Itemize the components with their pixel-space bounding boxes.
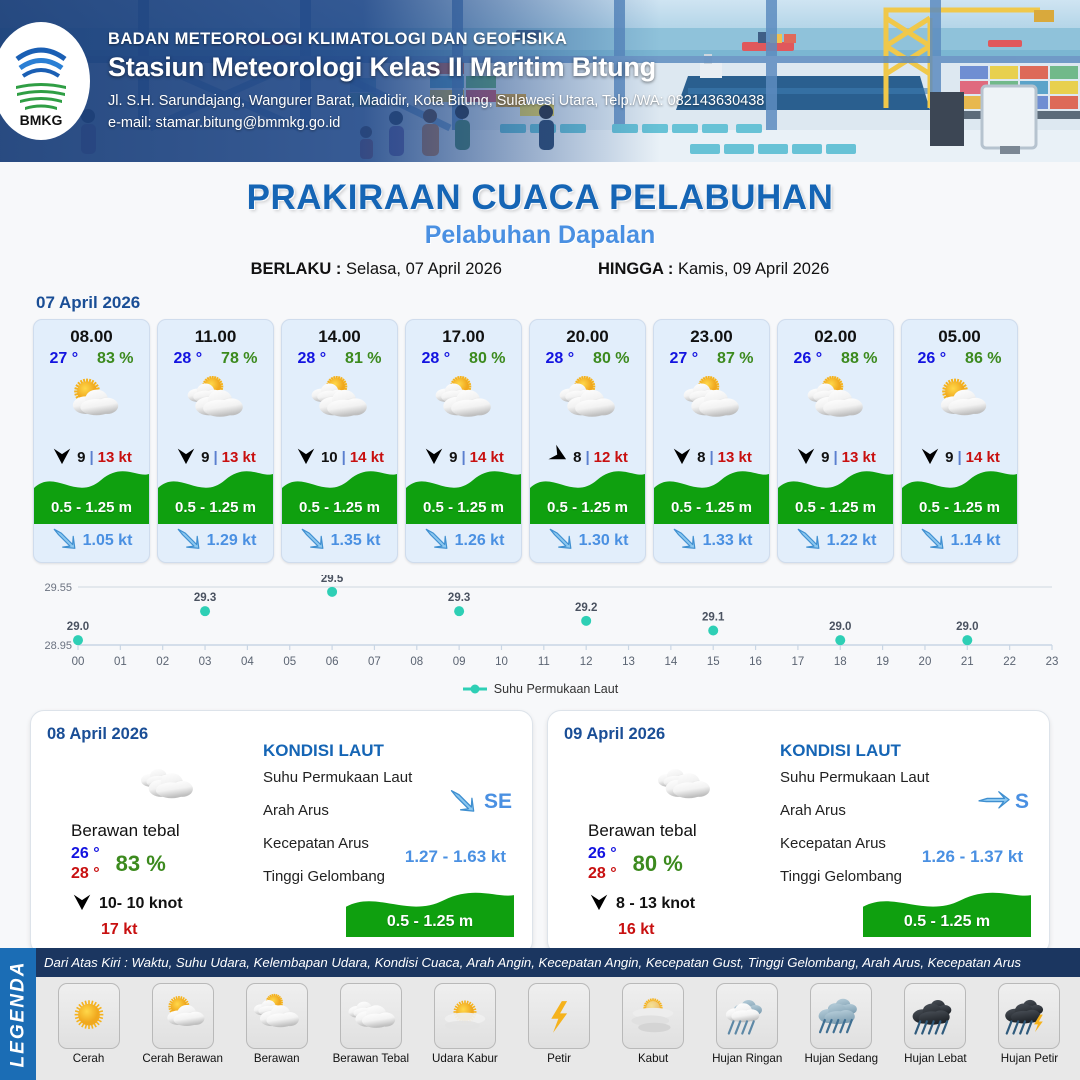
daily-temp-range: 26 ° 28 °: [588, 844, 617, 884]
legend-item: Hujan Lebat: [889, 983, 982, 1066]
svg-text:02: 02: [156, 656, 169, 668]
svg-text:11: 11: [538, 656, 550, 668]
hingga-label: HINGGA :: [598, 260, 673, 278]
card-humidity: 86 %: [965, 350, 1001, 368]
row-current-speed-label: Kecepatan Arus: [780, 835, 886, 852]
weather-cerah-berawan-icon: [152, 983, 214, 1049]
svg-text:01: 01: [114, 656, 127, 668]
legend-item-label: Udara Kabur: [432, 1053, 498, 1066]
forecast-date-label: 07 April 2026: [36, 293, 1080, 313]
current-direction-arrow-icon: [448, 786, 476, 818]
card-humidity: 80 %: [593, 350, 629, 368]
daily-wave-height: 0.5 - 1.25 m: [863, 913, 1031, 931]
forecast-card[interactable]: 14.00 28 ° 81 % 10 | 14 kt: [281, 319, 398, 563]
card-temp-humidity: 28 ° 80 %: [406, 350, 521, 368]
svg-text:05: 05: [283, 656, 296, 668]
weather-kabut-icon: [622, 983, 684, 1049]
weather-berawan-icon: [282, 370, 397, 436]
card-temperature: 27 °: [669, 350, 698, 368]
daily-temp-max: 28 °: [588, 864, 617, 884]
weather-udara-kabur-icon: [434, 983, 496, 1049]
legenda-text: LEGENDA: [7, 961, 29, 1068]
daily-forecast-panel[interactable]: 09 April 2026 Berawan tebal 26 ° 28: [547, 710, 1050, 955]
svg-text:23: 23: [1046, 656, 1059, 668]
daily-gust: 17 kt: [101, 921, 261, 939]
card-current-row: 1.30 kt: [530, 525, 645, 556]
current-direction-arrow-icon: [547, 525, 573, 556]
card-time: 17.00: [406, 327, 521, 347]
legend-item: Kabut: [607, 983, 700, 1066]
row-current-direction-label: Arah Arus: [263, 802, 329, 819]
current-speed: 1.29 kt: [207, 532, 257, 550]
legend-item-label: Berawan Tebal: [333, 1053, 410, 1066]
card-current-row: 1.35 kt: [282, 525, 397, 556]
current-speed: 1.26 kt: [455, 532, 505, 550]
berlaku-group: BERLAKU : Selasa, 07 April 2026: [251, 260, 502, 279]
weather-berawan-tebal-icon: [340, 983, 402, 1049]
row-current-speed: Kecepatan Arus 1.26 - 1.37 kt: [780, 835, 1037, 852]
svg-text:BMKG: BMKG: [20, 112, 63, 128]
svg-text:29.0: 29.0: [829, 621, 851, 633]
legend-item: Cerah: [42, 983, 135, 1066]
wave-height: 0.5 - 1.25 m: [902, 499, 1017, 516]
station-address: Jl. S.H. Sarundajang, Wangurer Barat, Ma…: [108, 93, 764, 109]
weather-cerah-berawan-icon: [34, 370, 149, 436]
svg-text:16: 16: [749, 656, 762, 668]
wave-height: 0.5 - 1.25 m: [158, 499, 273, 516]
svg-text:09: 09: [453, 656, 466, 668]
legend-item-label: Kabut: [638, 1053, 668, 1066]
validity-row: BERLAKU : Selasa, 07 April 2026 HINGGA :…: [0, 260, 1080, 279]
card-temperature: 27 °: [49, 350, 78, 368]
sea-conditions-title: KONDISI LAUT: [780, 741, 1037, 761]
sst-legend-marker: [462, 683, 488, 695]
wind-direction-arrow-icon: [71, 890, 93, 917]
daily-wave-graphic: 0.5 - 1.25 m: [863, 885, 1031, 937]
row-sea-surface-temp: Suhu Permukaan Laut: [263, 769, 520, 786]
legend-item-label: Cerah Berawan: [142, 1053, 223, 1066]
forecast-card[interactable]: 05.00 26 ° 86 % 9 | 14 kt 0.: [901, 319, 1018, 563]
forecast-card[interactable]: 08.00 27 ° 83 % 9 | 13 kt 0.: [33, 319, 150, 563]
hourly-forecast-row: 08.00 27 ° 83 % 9 | 13 kt 0.: [0, 319, 1080, 563]
card-temperature: 28 °: [297, 350, 326, 368]
legend-item-label: Hujan Petir: [1001, 1053, 1058, 1066]
legend-description: Dari Atas Kiri : Waktu, Suhu Udara, Kele…: [36, 948, 1080, 977]
current-speed-value: 1.26 - 1.37 kt: [922, 847, 1023, 867]
daily-temp-min: 26 °: [71, 844, 100, 864]
daily-condition: Berawan tebal: [71, 821, 261, 841]
chart-legend-label: Suhu Permukaan Laut: [494, 682, 618, 696]
row-current-speed-label: Kecepatan Arus: [263, 835, 369, 852]
forecast-card[interactable]: 11.00 28 ° 78 % 9 | 13 kt: [157, 319, 274, 563]
wave-height: 0.5 - 1.25 m: [282, 499, 397, 516]
legend-side-label: LEGENDA: [0, 948, 36, 1080]
current-speed: 1.14 kt: [951, 532, 1001, 550]
page-header: BMKG BADAN METEOROLOGI KLIMATOLOGI DAN G…: [0, 0, 1080, 162]
card-humidity: 78 %: [221, 350, 257, 368]
current-speed: 1.22 kt: [827, 532, 877, 550]
chart-legend: Suhu Permukaan Laut: [0, 682, 1080, 696]
daily-temp-max: 28 °: [71, 864, 100, 884]
wave-height: 0.5 - 1.25 m: [34, 499, 149, 516]
daily-condition: Berawan tebal: [588, 821, 778, 841]
svg-text:15: 15: [707, 656, 720, 668]
svg-text:19: 19: [876, 656, 889, 668]
weather-hujan-ringan-icon: [716, 983, 778, 1049]
svg-text:21: 21: [961, 656, 974, 668]
current-direction-arrow-icon: [979, 786, 1007, 818]
card-temperature: 28 °: [545, 350, 574, 368]
row-current-direction: Arah Arus S: [780, 802, 1037, 819]
card-current-row: 1.33 kt: [654, 525, 769, 556]
sea-conditions: KONDISI LAUT Suhu Permukaan Laut Arah Ar…: [263, 741, 520, 901]
weather-berawan-tebal-icon: [71, 757, 261, 813]
daily-gust: 16 kt: [618, 921, 778, 939]
daily-forecast-row: 08 April 2026 Berawan tebal 26 ° 28: [0, 696, 1080, 955]
card-temperature: 26 °: [793, 350, 822, 368]
svg-text:13: 13: [622, 656, 635, 668]
sst-chart: 29.5528.95000102030405060708091011121314…: [20, 575, 1060, 680]
svg-text:29.55: 29.55: [44, 582, 72, 594]
legend-item-label: Hujan Sedang: [805, 1053, 879, 1066]
daily-temp-range: 26 ° 28 °: [71, 844, 100, 884]
sea-conditions-title: KONDISI LAUT: [263, 741, 520, 761]
card-temp-humidity: 26 ° 86 %: [902, 350, 1017, 368]
wave-height: 0.5 - 1.25 m: [654, 499, 769, 516]
daily-wave-height: 0.5 - 1.25 m: [346, 913, 514, 931]
weather-hujan-sedang-icon: [810, 983, 872, 1049]
weather-berawan-icon: [406, 370, 521, 436]
forecast-card[interactable]: 17.00 28 ° 80 % 9 | 14 kt: [405, 319, 522, 563]
row-wave-height: Tinggi Gelombang 0.5 - 1.25 m: [263, 868, 520, 885]
svg-text:29.0: 29.0: [956, 621, 978, 633]
svg-text:10: 10: [495, 656, 508, 668]
svg-text:07: 07: [368, 656, 381, 668]
daily-humidity: 80 %: [633, 851, 683, 877]
legend-item: Udara Kabur: [418, 983, 511, 1066]
forecast-card[interactable]: 02.00 26 ° 88 % 9 | 13 kt: [777, 319, 894, 563]
weather-berawan-icon: [530, 370, 645, 436]
weather-hujan-petir-icon: [998, 983, 1060, 1049]
current-direction-arrow-icon: [175, 525, 201, 556]
daily-humidity: 83 %: [116, 851, 166, 877]
forecast-card[interactable]: 20.00 28 ° 80 % 8 | 12 kt: [529, 319, 646, 563]
card-current-row: 1.22 kt: [778, 525, 893, 556]
svg-text:08: 08: [410, 656, 423, 668]
bmkg-logo: BMKG: [0, 22, 90, 140]
wave-height: 0.5 - 1.25 m: [406, 499, 521, 516]
svg-text:14: 14: [664, 656, 677, 668]
row-current-direction: Arah Arus SE: [263, 802, 520, 819]
svg-text:29.2: 29.2: [575, 602, 597, 614]
wave-height: 0.5 - 1.25 m: [778, 499, 893, 516]
page-title: PRAKIRAAN CUACA PELABUHAN: [0, 178, 1080, 218]
current-direction-arrow-icon: [423, 525, 449, 556]
current-direction-value: SE: [448, 786, 512, 818]
card-temperature: 26 °: [917, 350, 946, 368]
card-time: 11.00: [158, 327, 273, 347]
legend-bar: LEGENDA Dari Atas Kiri : Waktu, Suhu Uda…: [0, 948, 1080, 1080]
card-current-row: 1.05 kt: [34, 525, 149, 556]
daily-wind-row: 10- 10 knot: [71, 890, 261, 917]
hingga-value: Kamis, 09 April 2026: [678, 260, 829, 278]
legend-icon-list: Cerah Cerah Berawan: [36, 977, 1080, 1080]
svg-text:29.0: 29.0: [67, 621, 89, 633]
berlaku-label: BERLAKU :: [251, 260, 342, 278]
station-email: e-mail: stamar.bitung@bmmkg.go.id: [108, 115, 764, 131]
svg-text:20: 20: [919, 656, 932, 668]
card-temperature: 28 °: [421, 350, 450, 368]
card-time: 02.00: [778, 327, 893, 347]
svg-text:00: 00: [72, 656, 85, 668]
legend-item: Hujan Ringan: [701, 983, 794, 1066]
current-direction-label: S: [1015, 790, 1029, 814]
svg-text:06: 06: [326, 656, 339, 668]
current-direction-arrow-icon: [795, 525, 821, 556]
forecast-card[interactable]: 23.00 27 ° 87 % 8 | 13 kt: [653, 319, 770, 563]
card-time: 05.00: [902, 327, 1017, 347]
card-humidity: 80 %: [469, 350, 505, 368]
card-time: 14.00: [282, 327, 397, 347]
weather-petir-icon: [528, 983, 590, 1049]
card-temp-humidity: 27 ° 83 %: [34, 350, 149, 368]
current-speed: 1.30 kt: [579, 532, 629, 550]
current-speed: 1.33 kt: [703, 532, 753, 550]
card-temperature: 28 °: [173, 350, 202, 368]
daily-left-column: Berawan tebal 26 ° 28 ° 83 % 10- 10 knot…: [71, 757, 261, 939]
svg-text:12: 12: [580, 656, 593, 668]
row-current-speed: Kecepatan Arus 1.27 - 1.63 kt: [263, 835, 520, 852]
agency-name: BADAN METEOROLOGI KLIMATOLOGI DAN GEOFIS…: [108, 30, 764, 49]
legend-item: Hujan Petir: [983, 983, 1076, 1066]
svg-text:29.1: 29.1: [702, 612, 725, 624]
legend-item: Berawan: [230, 983, 323, 1066]
card-humidity: 87 %: [717, 350, 753, 368]
berlaku-value: Selasa, 07 April 2026: [346, 260, 502, 278]
card-time: 20.00: [530, 327, 645, 347]
legend-item: Berawan Tebal: [324, 983, 417, 1066]
current-direction-label: SE: [484, 790, 512, 814]
row-wave-height-label: Tinggi Gelombang: [263, 868, 385, 885]
daily-left-column: Berawan tebal 26 ° 28 ° 80 % 8 - 13 knot…: [588, 757, 778, 939]
daily-wave-graphic: 0.5 - 1.25 m: [346, 885, 514, 937]
legend-item-label: Hujan Ringan: [712, 1053, 782, 1066]
daily-wind-speed: 8 - 13 knot: [616, 895, 695, 913]
weather-berawan-icon: [778, 370, 893, 436]
svg-text:22: 22: [1003, 656, 1016, 668]
daily-wind-speed: 10- 10 knot: [99, 895, 183, 913]
daily-temps: 26 ° 28 ° 83 %: [71, 844, 261, 884]
current-speed: 1.05 kt: [83, 532, 133, 550]
card-humidity: 81 %: [345, 350, 381, 368]
card-temp-humidity: 28 ° 81 %: [282, 350, 397, 368]
row-current-direction-label: Arah Arus: [780, 802, 846, 819]
wave-height: 0.5 - 1.25 m: [530, 499, 645, 516]
row-wave-height-label: Tinggi Gelombang: [780, 868, 902, 885]
card-temp-humidity: 27 ° 87 %: [654, 350, 769, 368]
legend-item: Petir: [512, 983, 605, 1066]
daily-wind-row: 8 - 13 knot: [588, 890, 778, 917]
daily-temp-min: 26 °: [588, 844, 617, 864]
current-direction-arrow-icon: [671, 525, 697, 556]
weather-cerah-berawan-icon: [902, 370, 1017, 436]
daily-forecast-panel[interactable]: 08 April 2026 Berawan tebal 26 ° 28: [30, 710, 533, 955]
svg-text:17: 17: [792, 656, 805, 668]
card-time: 08.00: [34, 327, 149, 347]
current-speed-value: 1.27 - 1.63 kt: [405, 847, 506, 867]
svg-text:29.3: 29.3: [448, 592, 470, 604]
card-current-row: 1.14 kt: [902, 525, 1017, 556]
current-direction-arrow-icon: [51, 525, 77, 556]
card-current-row: 1.29 kt: [158, 525, 273, 556]
daily-temps: 26 ° 28 ° 80 %: [588, 844, 778, 884]
legend-item-label: Hujan Lebat: [904, 1053, 967, 1066]
legend-item-label: Petir: [547, 1053, 571, 1066]
current-direction-arrow-icon: [299, 525, 325, 556]
current-speed: 1.35 kt: [331, 532, 381, 550]
card-current-row: 1.26 kt: [406, 525, 521, 556]
wind-direction-arrow-icon: [588, 890, 610, 917]
weather-cerah-icon: [58, 983, 120, 1049]
station-name: Stasiun Meteorologi Kelas II Maritim Bit…: [108, 52, 764, 83]
current-direction-arrow-icon: [919, 525, 945, 556]
svg-text:29.5: 29.5: [321, 575, 344, 585]
svg-text:04: 04: [241, 656, 254, 668]
svg-text:18: 18: [834, 656, 847, 668]
card-time: 23.00: [654, 327, 769, 347]
row-wave-height: Tinggi Gelombang 0.5 - 1.25 m: [780, 868, 1037, 885]
sea-conditions: KONDISI LAUT Suhu Permukaan Laut Arah Ar…: [780, 741, 1037, 901]
legend-item-label: Berawan: [254, 1053, 300, 1066]
current-direction-value: S: [979, 786, 1029, 818]
weather-berawan-tebal-icon: [588, 757, 778, 813]
card-temp-humidity: 28 ° 80 %: [530, 350, 645, 368]
legend-item-label: Cerah: [73, 1053, 105, 1066]
card-humidity: 88 %: [841, 350, 877, 368]
page-subtitle: Pelabuhan Dapalan: [0, 221, 1080, 250]
card-temp-humidity: 28 ° 78 %: [158, 350, 273, 368]
weather-hujan-lebat-icon: [904, 983, 966, 1049]
svg-text:29.3: 29.3: [194, 592, 216, 604]
weather-berawan-icon: [158, 370, 273, 436]
legend-item: Hujan Sedang: [795, 983, 888, 1066]
hingga-group: HINGGA : Kamis, 09 April 2026: [598, 260, 829, 279]
svg-text:28.95: 28.95: [44, 640, 72, 652]
card-humidity: 83 %: [97, 350, 133, 368]
weather-berawan-icon: [246, 983, 308, 1049]
weather-berawan-icon: [654, 370, 769, 436]
legend-item: Cerah Berawan: [136, 983, 229, 1066]
row-sea-surface-temp: Suhu Permukaan Laut: [780, 769, 1037, 786]
card-temp-humidity: 26 ° 88 %: [778, 350, 893, 368]
svg-text:03: 03: [199, 656, 212, 668]
